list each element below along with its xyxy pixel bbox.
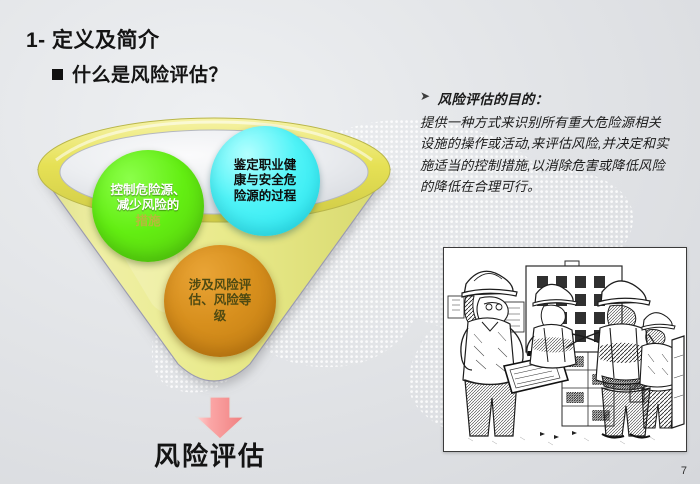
bubble-cyan-line-3: 险源的过程	[234, 189, 297, 204]
bubble-orange-line-3: 级	[214, 309, 227, 324]
construction-workers-illustration	[443, 247, 687, 452]
arrow-bullet-icon: ➤	[420, 88, 430, 105]
down-arrow-icon	[190, 396, 250, 440]
bubble-orange-line-1: 涉及风险评	[189, 278, 252, 293]
purpose-heading: 风险评估的目的：	[437, 88, 548, 108]
purpose-line-1: 提供一种方式来识别所有重大危险源相关	[420, 112, 688, 133]
bubble-control-hazard[interactable]: 控制危险源、 减少风险的 措施	[92, 150, 204, 262]
bubble-green-line-3: 措施	[135, 214, 160, 229]
page-number: 7	[681, 465, 687, 477]
bubble-risk-rating[interactable]: 涉及风险评 估、风险等 级	[164, 245, 276, 357]
purpose-line-2: 设施的操作或活动,来评估风险,并决定和实	[420, 133, 688, 154]
funnel-result-label: 风险评估	[0, 436, 420, 473]
bubble-identify-hazard[interactable]: 鉴定职业健 康与安全危 险源的过程	[210, 126, 320, 236]
page-title: 1- 定义及简介	[26, 24, 160, 54]
bubble-orange-line-2: 估、风险等	[189, 293, 252, 308]
bubble-cyan-line-2: 康与安全危	[234, 173, 297, 188]
purpose-heading-row: ➤ 风险评估的目的：	[420, 88, 688, 108]
square-bullet-icon	[52, 69, 63, 80]
purpose-line-4: 的降低在合理可行。	[420, 176, 688, 197]
bubble-cyan-line-1: 鉴定职业健	[234, 158, 297, 173]
subtitle-row: 什么是风险评估？	[52, 60, 228, 87]
purpose-text-block: ➤ 风险评估的目的： 提供一种方式来识别所有重大危险源相关 设施的操作或活动,来…	[420, 88, 688, 198]
bubble-green-line-2: 减少风险的	[117, 198, 180, 213]
bubble-green-line-1: 控制危险源、	[110, 183, 185, 198]
purpose-line-3: 施适当的控制措施,以消除危害或降低风险	[420, 155, 688, 176]
page-subtitle: 什么是风险评估？	[72, 60, 228, 87]
slide-canvas: 1- 定义及简介 什么是风险评估？	[0, 0, 700, 484]
